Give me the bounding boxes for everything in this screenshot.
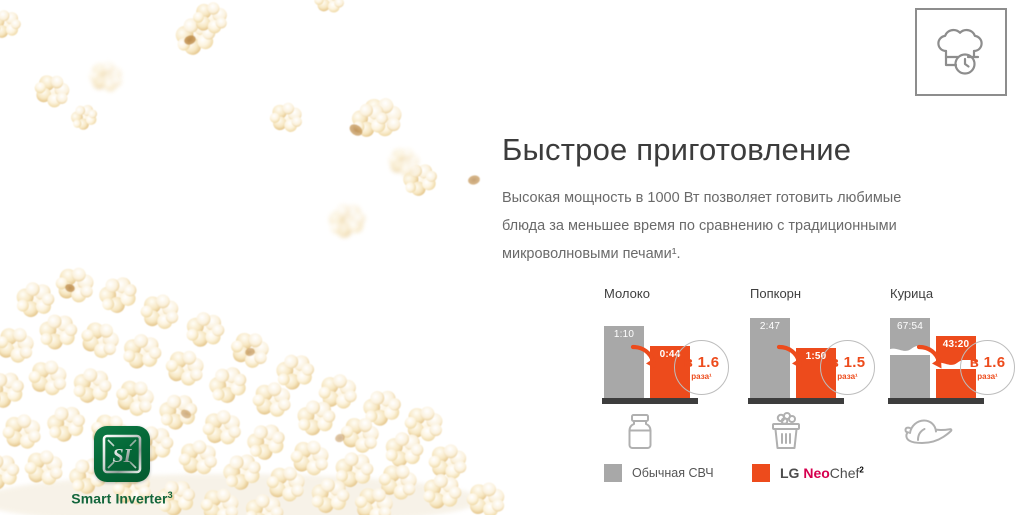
smart-inverter-superscript: 3 [168, 490, 173, 500]
ratio-badge: в 1.6 раза¹ [960, 340, 1015, 395]
logo-superscript: 2 [859, 465, 863, 474]
popcorn-bucket-icon [764, 410, 808, 454]
smart-inverter-badge: SI Smart Inverter3 [62, 426, 182, 507]
lg-neochef-logo: LG NeoChef2 [780, 465, 864, 481]
bar-value-label: 67:54 [890, 321, 930, 332]
chef-hat-timer-badge [915, 8, 1007, 96]
smart-inverter-label: Smart Inverter3 [62, 490, 182, 507]
si-monogram-icon: SI [101, 433, 143, 475]
legend-swatch-grey [604, 464, 622, 482]
cooking-time-chart: Молоко 1:10 0:44 в 1.6 раза¹ [596, 286, 1016, 501]
ratio-badge: в 1.5 раза¹ [820, 340, 875, 395]
ratio-badge: в 1.6 раза¹ [674, 340, 729, 395]
ratio-value: в 1.6 [970, 355, 1006, 370]
ratio-value: в 1.6 [684, 355, 720, 370]
category-label: Курица [890, 286, 933, 301]
roast-chicken-icon [898, 416, 954, 450]
reduction-arrow-icon [916, 344, 948, 370]
copy-block: Быстрое приготовление Высокая мощность в… [502, 132, 942, 268]
logo-lg-text: LG [780, 465, 803, 481]
legend-item-conventional: Обычная СВЧ [604, 464, 714, 482]
legend-swatch-orange [752, 464, 770, 482]
legend-item-neochef: LG NeoChef2 [752, 464, 864, 482]
chef-hat-timer-icon [932, 24, 990, 80]
ratio-unit: раза¹ [837, 373, 857, 381]
promo-banner: Быстрое приготовление Высокая мощность в… [0, 0, 1024, 515]
chart-legend: Обычная СВЧ LG NeoChef2 [596, 464, 1016, 488]
category-label: Попкорн [750, 286, 801, 301]
ratio-unit: раза¹ [977, 373, 997, 381]
reduction-arrow-icon [630, 344, 662, 370]
chart-baseline [602, 398, 698, 404]
bar-value-label: 2:47 [750, 321, 790, 332]
bar-value-label: 1:10 [604, 329, 644, 340]
smart-inverter-tile: SI [94, 426, 150, 482]
smart-inverter-text: Smart Inverter [71, 491, 167, 507]
description-text: Высокая мощность в 1000 Вт позволяет гот… [502, 184, 942, 269]
milk-jar-icon [618, 410, 662, 454]
reduction-arrow-icon [776, 344, 808, 370]
ratio-unit: раза¹ [691, 373, 711, 381]
legend-label: Обычная СВЧ [632, 466, 714, 480]
logo-neo-text: Neo [803, 465, 829, 481]
logo-chef-text: Chef [830, 465, 860, 481]
category-label: Молоко [604, 286, 650, 301]
page-title: Быстрое приготовление [502, 132, 942, 168]
chart-baseline [888, 398, 984, 404]
ratio-value: в 1.5 [830, 355, 866, 370]
chart-baseline [748, 398, 844, 404]
svg-text:SI: SI [113, 445, 133, 467]
